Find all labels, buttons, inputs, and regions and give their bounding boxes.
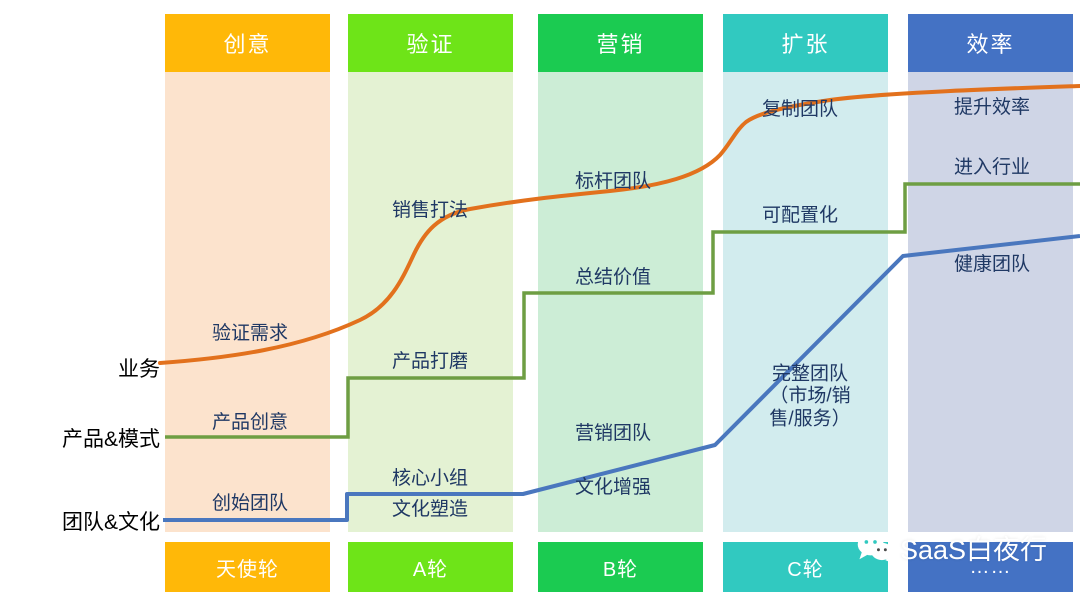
round-bar-b[interactable]: B轮 xyxy=(538,542,703,592)
stage-column-efficiency[interactable]: 效率 xyxy=(908,14,1073,532)
stage-column-expand[interactable]: 扩张 xyxy=(723,14,888,532)
stage-column-marketing[interactable]: 营销 xyxy=(538,14,703,532)
round-bar-a[interactable]: A轮 xyxy=(348,542,513,592)
stage-body-marketing xyxy=(538,72,703,532)
stage-body-validate xyxy=(348,72,513,532)
diagram-canvas: 创意 验证 营销 扩张 效率 业务 产品&模式 团队&文化 验证需求 产品创意 … xyxy=(0,0,1080,600)
wechat-icon xyxy=(856,532,894,564)
stage-header-idea: 创意 xyxy=(165,14,330,72)
stage-header-efficiency: 效率 xyxy=(908,14,1073,72)
watermark-text: SaaS白夜行 xyxy=(900,528,1047,567)
round-bar-angel[interactable]: 天使轮 xyxy=(165,542,330,592)
stage-column-validate[interactable]: 验证 xyxy=(348,14,513,532)
stage-column-idea[interactable]: 创意 xyxy=(165,14,330,532)
stage-body-efficiency xyxy=(908,72,1073,532)
stage-header-marketing: 营销 xyxy=(538,14,703,72)
watermark: SaaS白夜行 xyxy=(856,528,1047,567)
stage-header-expand: 扩张 xyxy=(723,14,888,72)
stage-body-idea xyxy=(165,72,330,532)
axis-label-product-model: 产品&模式 xyxy=(62,423,160,453)
axis-label-business: 业务 xyxy=(118,353,160,383)
axis-label-team-culture: 团队&文化 xyxy=(62,506,160,536)
stage-header-validate: 验证 xyxy=(348,14,513,72)
stage-body-expand xyxy=(723,72,888,532)
